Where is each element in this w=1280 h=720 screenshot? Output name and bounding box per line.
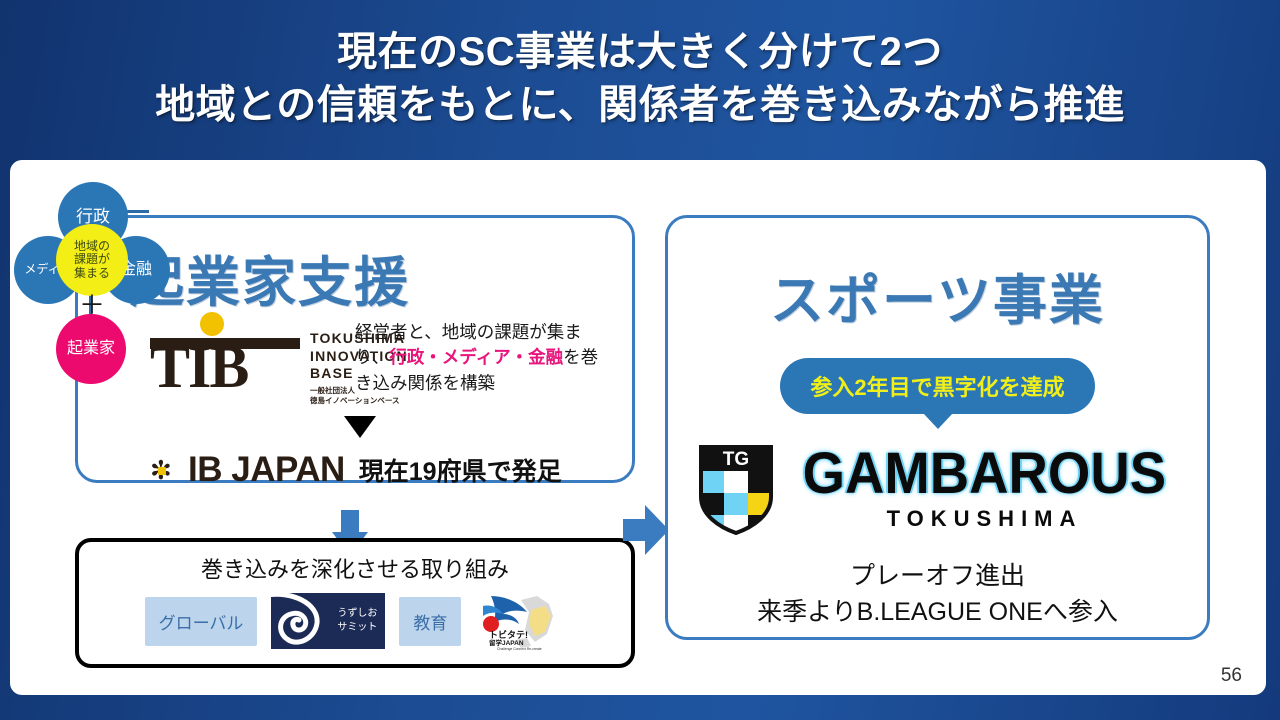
initiatives-title: 巻き込みを深化させる取り組み bbox=[79, 552, 631, 584]
copy-highlight-2: 融 bbox=[546, 347, 564, 367]
issues-line-2: 課題が bbox=[74, 252, 110, 266]
sports-business-footer: プレーオフ進出 来季よりB.LEAGUE ONEへ参入 bbox=[668, 558, 1207, 631]
connector-arrow-right-icon bbox=[623, 505, 669, 555]
profitability-badge: 参入2年目で黒字化を達成 bbox=[780, 358, 1094, 414]
ib-star-core bbox=[158, 467, 166, 475]
slide-title: 現在のSC事業は大きく分けて2つ 地域との信頼をもとに、関係者を巻き込みながら推… bbox=[0, 6, 1280, 151]
title-line-1: 現在のSC事業は大きく分けて2つ bbox=[337, 28, 943, 77]
initiatives-row: グローバル うずしお サミット 教育 bbox=[79, 590, 631, 652]
content-card: 起業家支援 行政 メディア 金融 地域の 課題が 集まる ＋ 起業家 TIB bbox=[10, 160, 1266, 695]
tib-sun-dot-icon bbox=[200, 312, 224, 336]
tib-jp-2: 徳島イノベーションベース bbox=[310, 396, 428, 406]
uzushio-text: うずしお サミット bbox=[337, 607, 385, 635]
page-number: 56 bbox=[1221, 665, 1242, 687]
issues-line-1: 地域の bbox=[74, 239, 110, 253]
tib-letters: TIB bbox=[150, 334, 305, 400]
svg-text:留学JAPAN: 留学JAPAN bbox=[489, 638, 524, 647]
footer-line-2: 来季よりB.LEAGUE ONEへ参入 bbox=[668, 594, 1207, 630]
gambarous-subtitle: TOKUSHIMA bbox=[887, 506, 1083, 532]
issues-line-3: 集まる bbox=[74, 266, 110, 280]
tag-education: 教育 bbox=[399, 597, 461, 646]
sports-business-heading: スポーツ事業 bbox=[668, 256, 1207, 335]
gambarous-name: GAMBAROUS bbox=[803, 446, 1166, 501]
stakeholder-cluster: 行政 メディア 金融 地域の 課題が 集まる ＋ 起業家 bbox=[10, 170, 170, 400]
copy-highlight-1: 行政・メディア・金 bbox=[389, 347, 545, 367]
footer-line-1: プレーオフ進出 bbox=[668, 558, 1207, 594]
plus-icon: ＋ bbox=[79, 292, 105, 318]
tobitate-logo-icon: トビタテ! 留学JAPAN Challenge Connect Re-creat… bbox=[475, 590, 565, 652]
svg-text:トビタテ!: トビタテ! bbox=[489, 629, 528, 640]
spiral-icon bbox=[271, 593, 329, 649]
entrepreneur-support-heading: 起業家支援 bbox=[130, 238, 410, 317]
gambarous-logo: TG GAMBAROUS TOKUSHIMA bbox=[668, 443, 1207, 535]
svg-text:Challenge Connect Re-create: Challenge Connect Re-create bbox=[497, 647, 542, 651]
slide-root: 現在のSC事業は大きく分けて2つ 地域との信頼をもとに、関係者を巻き込みながら推… bbox=[0, 0, 1280, 720]
uzushio-summit-logo: うずしお サミット bbox=[271, 593, 385, 649]
arrow-down-shaft bbox=[341, 510, 359, 534]
sports-business-panel: スポーツ事業 参入2年目で黒字化を達成 bbox=[665, 215, 1210, 640]
circle-local-issues-label: 地域の 課題が 集まる bbox=[74, 240, 110, 280]
entrepreneur-support-copy: 経営者と、地域の課題が集まり、行政・メディア・金融を巻き込み関係を構築 bbox=[355, 320, 613, 396]
ib-japan-row: ✻ IB JAPAN 現在19府県で発足 bbox=[150, 450, 562, 490]
ib-japan-star-icon: ✻ bbox=[150, 458, 174, 482]
profitability-badge-wrap: 参入2年目で黒字化を達成 bbox=[668, 358, 1207, 414]
uzushio-line-2: サミット bbox=[337, 621, 377, 635]
title-line-2: 地域との信頼をもとに、関係者を巻き込みながら推進 bbox=[155, 81, 1125, 130]
triangle-down-icon bbox=[344, 416, 376, 438]
circle-local-issues: 地域の 課題が 集まる bbox=[56, 224, 128, 296]
svg-text:TG: TG bbox=[723, 449, 749, 470]
tib-logo: TIB TOKUSHIMA INNOVATION BASE 一般社団法人 徳島イ… bbox=[150, 312, 360, 400]
tag-global: グローバル bbox=[145, 597, 258, 646]
ib-japan-name: IB JAPAN bbox=[188, 450, 345, 490]
team-crest-icon: TG bbox=[697, 443, 775, 535]
gambarous-wordmark: GAMBAROUS TOKUSHIMA bbox=[791, 446, 1178, 531]
initiatives-box: 巻き込みを深化させる取り組み グローバル うずしお サミット 教育 bbox=[75, 538, 635, 668]
circle-entrepreneur: 起業家 bbox=[56, 314, 126, 384]
ib-japan-note: 現在19府県で発足 bbox=[359, 452, 562, 488]
uzushio-line-1: うずしお bbox=[337, 607, 377, 621]
tobitate-logo: トビタテ! 留学JAPAN Challenge Connect Re-creat… bbox=[475, 590, 565, 652]
